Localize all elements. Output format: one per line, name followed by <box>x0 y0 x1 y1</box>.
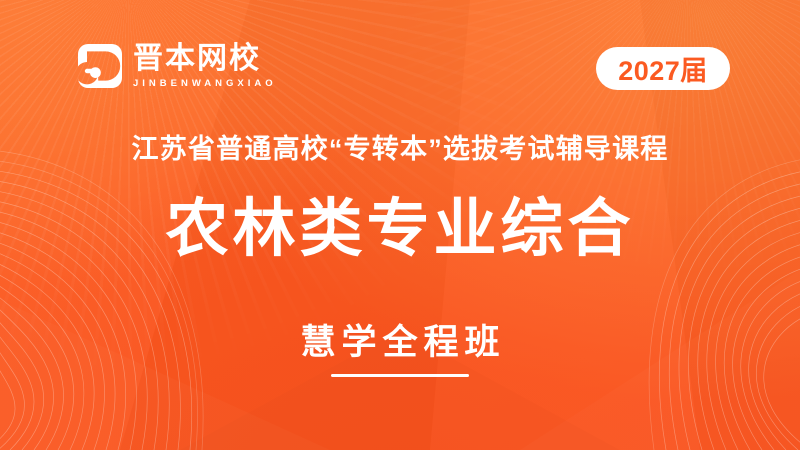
jinben-note-badge-icon <box>78 44 122 88</box>
brand-logo: 晋本网校 JINBENWANGXIAO <box>78 44 277 88</box>
banner-subtitle: 江苏省普通高校“专转本”选拔考试辅导课程 <box>0 127 800 166</box>
brand-name-en: JINBENWANGXIAO <box>133 79 277 89</box>
banner-headline: 农林类专业综合 <box>0 196 800 263</box>
banner-tagline: 慧学全程班 <box>0 314 800 365</box>
course-promo-banner: 晋本网校 JINBENWANGXIAO 2027届 江苏省普通高校“专转本”选拔… <box>0 0 800 450</box>
brand-wordmark: 晋本网校 JINBENWANGXIAO <box>133 44 277 88</box>
brand-name-cn: 晋本网校 <box>133 44 277 75</box>
divider-rule <box>331 374 469 377</box>
year-badge: 2027届 <box>596 47 730 90</box>
